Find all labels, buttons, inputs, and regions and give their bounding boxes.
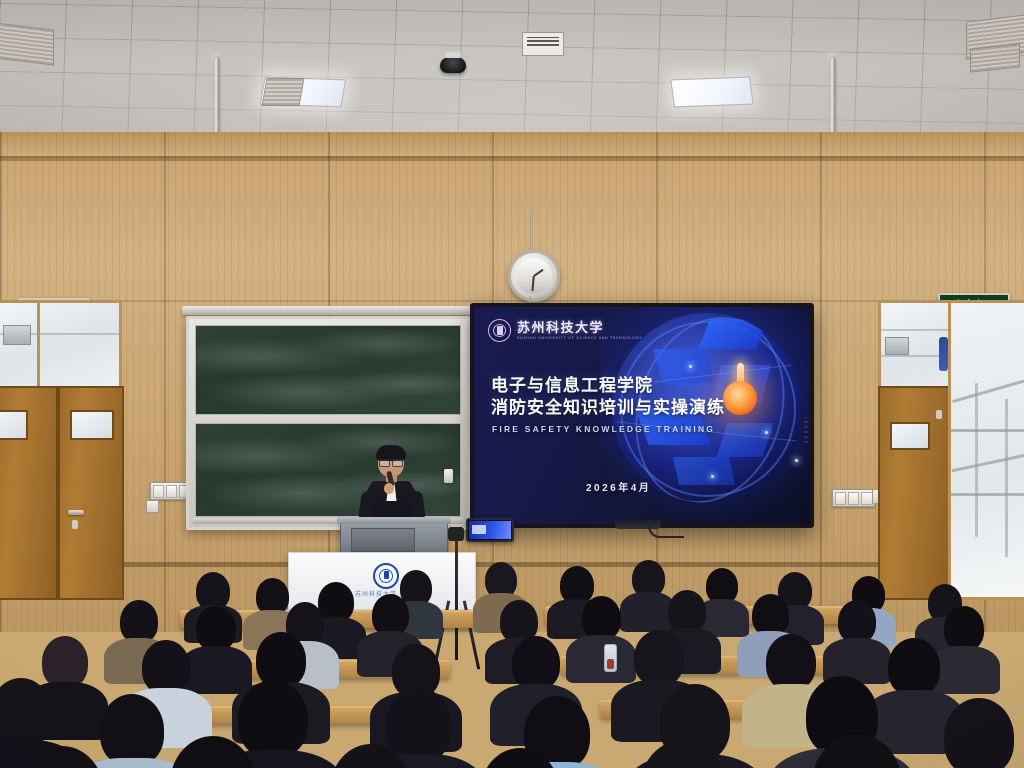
tripod-head[interactable]	[448, 527, 464, 541]
person-head	[256, 632, 306, 688]
clock-hour-hand	[533, 269, 543, 277]
phone-screen	[469, 521, 511, 539]
person-head	[100, 694, 164, 766]
person-head	[752, 594, 789, 636]
person-head	[838, 600, 876, 643]
lectern-surface	[337, 517, 451, 524]
transom-window-left	[0, 300, 122, 392]
ceiling-light-right	[670, 77, 754, 108]
dome-security-camera	[440, 57, 466, 73]
spark	[765, 431, 768, 434]
person-head	[318, 582, 354, 622]
person-head	[196, 606, 236, 651]
wall-outlet-left[interactable]	[146, 500, 159, 513]
person-head	[944, 606, 984, 651]
slide-screen: 苏州科技大学 SUZHOU UNIVERSITY OF SCIENCE AND …	[474, 307, 810, 524]
person-head	[238, 680, 308, 758]
slide-title-line1: 电子与信息工程学院	[491, 375, 725, 397]
door-window	[0, 410, 28, 440]
slide-title: 电子与信息工程学院 消防安全知识培训与实操演练	[491, 375, 725, 419]
light-grille-left	[262, 78, 305, 106]
person-head	[142, 640, 190, 694]
person-head	[944, 698, 1014, 768]
wall-seam-mid	[0, 300, 1024, 302]
recording-smartphone[interactable]	[466, 518, 514, 542]
ember-sphere	[723, 381, 757, 415]
wall-seam-upper	[0, 158, 1024, 161]
chalk-smudges	[196, 326, 460, 414]
door-window	[890, 422, 930, 450]
globe-shard	[673, 457, 735, 485]
spark	[795, 459, 798, 462]
person-head	[42, 636, 88, 688]
water-bottle[interactable]	[604, 644, 617, 672]
slide-logo-name-cn: 苏州科技大学	[517, 321, 642, 335]
blackboard-top-rail	[182, 306, 470, 315]
door-lock[interactable]	[936, 410, 942, 419]
ceiling	[0, 0, 1024, 140]
presenter-glasses	[379, 459, 403, 466]
wall-clock	[508, 250, 560, 302]
light-switch[interactable]	[848, 492, 860, 505]
audience	[0, 548, 1024, 768]
university-seal-icon	[488, 319, 511, 342]
person-head	[386, 688, 452, 762]
person-head	[120, 600, 158, 643]
spark	[689, 365, 692, 368]
railing-post	[1005, 399, 1008, 557]
clock-wire	[530, 210, 531, 252]
person-shoulders	[180, 646, 252, 694]
air-vent-left	[0, 22, 54, 65]
light-switch-panel-right[interactable]	[832, 489, 875, 507]
slide-logo-name-en: SUZHOU UNIVERSITY OF SCIENCE AND TECHNOL…	[517, 335, 642, 341]
slide-title-line2: 消防安全知识培训与实操演练	[491, 397, 725, 419]
stair-railing	[951, 429, 1024, 432]
window-mullion	[37, 303, 40, 389]
person-head	[634, 630, 684, 686]
ceiling-speaker	[522, 32, 564, 56]
slide-university-logo: 苏州科技大学 SUZHOU UNIVERSITY OF SCIENCE AND …	[488, 319, 642, 342]
outdoor-ac-unit	[885, 337, 909, 355]
display-brand-mark	[804, 417, 808, 443]
classroom-scene: 安全出口 EXIT 安全出口 EXIT	[0, 0, 1024, 768]
person-shoulders	[566, 635, 636, 683]
door-lock[interactable]	[72, 520, 78, 529]
door-window	[70, 410, 114, 440]
blackboard-panel-upper	[195, 325, 461, 415]
person-head	[372, 594, 409, 636]
display-cable	[648, 520, 684, 538]
door-handle[interactable]	[68, 510, 84, 515]
clock-minute-hand	[532, 276, 535, 291]
slide-subtitle-en: FIRE SAFETY KNOWLEDGE TRAINING	[492, 424, 715, 434]
person-head	[766, 634, 816, 690]
presenter-hand	[384, 483, 394, 494]
light-switch[interactable]	[166, 485, 178, 498]
globe-shard	[698, 319, 768, 349]
person-head	[512, 636, 560, 690]
person-head	[668, 590, 706, 633]
clock-face	[516, 258, 552, 294]
light-switch[interactable]	[835, 492, 847, 505]
person-outside	[939, 337, 948, 371]
stair-railing	[952, 453, 1024, 473]
ceiling-shading	[0, 0, 1024, 140]
person-head	[582, 596, 621, 640]
stair-railing	[952, 378, 1024, 403]
slide-date: 2026年4月	[586, 479, 651, 494]
blackboard-eraser[interactable]	[444, 469, 453, 483]
railing-post	[975, 383, 978, 537]
spark	[711, 475, 714, 478]
presentation-display[interactable]: 苏州科技大学 SUZHOU UNIVERSITY OF SCIENCE AND …	[470, 303, 814, 528]
light-switch[interactable]	[153, 485, 165, 498]
light-switch[interactable]	[861, 492, 873, 505]
stair-railing	[951, 493, 1024, 496]
person-head	[888, 638, 940, 696]
outdoor-ac-unit	[3, 325, 31, 345]
